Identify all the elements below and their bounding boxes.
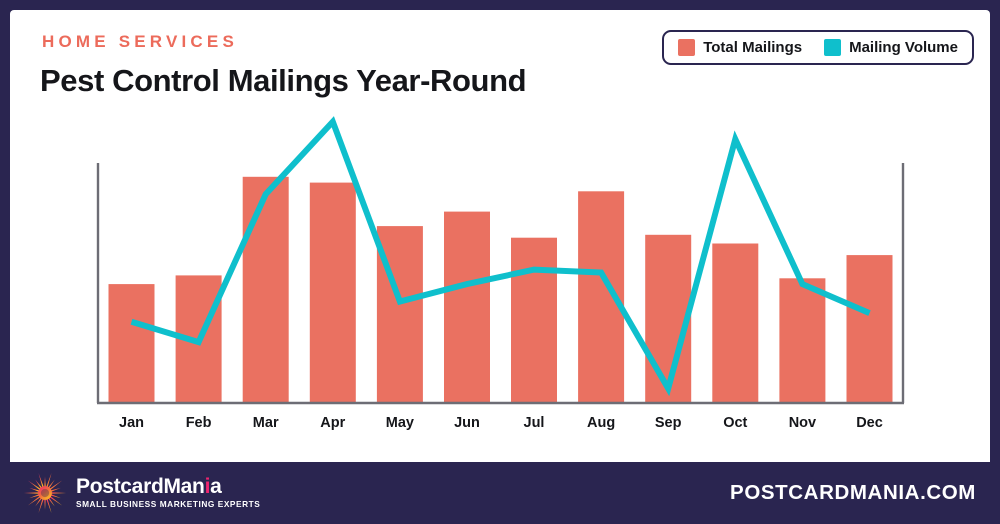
bar[interactable] [511, 238, 557, 403]
screenshot-root: HOME SERVICES Pest Control Mailings Year… [0, 0, 1000, 524]
bar[interactable] [712, 244, 758, 404]
x-axis-tick-label: Feb [186, 415, 212, 431]
brand-tagline: SMALL BUSINESS MARKETING EXPERTS [76, 499, 260, 510]
x-axis-tick-label: Nov [789, 415, 816, 431]
brand-name-pre: PostcardMan [76, 475, 205, 498]
bar[interactable] [779, 278, 825, 403]
x-axis-tick-label: Mar [253, 415, 279, 431]
chart-card: HOME SERVICES Pest Control Mailings Year… [10, 10, 990, 514]
brand-lockup[interactable]: PostcardMania SMALL BUSINESS MARKETING E… [22, 470, 260, 516]
x-axis-tick-label: Aug [587, 415, 615, 431]
footer-url[interactable]: POSTCARDMANIA.COM [730, 481, 976, 505]
x-axis-tick-label: Sep [655, 415, 682, 431]
x-axis-tick-label: Oct [723, 415, 747, 431]
bar[interactable] [444, 212, 490, 403]
bar[interactable] [109, 284, 155, 403]
x-axis-tick-label: Jun [454, 415, 480, 431]
bar-series [109, 177, 893, 403]
brand-name: PostcardMania [76, 476, 260, 498]
x-axis-tick-label: Jan [119, 415, 144, 431]
sunburst-logo-icon [22, 470, 68, 516]
footer-bar: PostcardMania SMALL BUSINESS MARKETING E… [0, 462, 1000, 524]
brand-name-post: a [210, 475, 221, 498]
x-axis-tick-label: Jul [524, 415, 545, 431]
bar[interactable] [310, 183, 356, 403]
chart-plot-area: JanFebMarAprMayJunJulAugSepOctNovDec [10, 10, 990, 514]
brand-text: PostcardMania SMALL BUSINESS MARKETING E… [76, 476, 260, 510]
bar[interactable] [847, 255, 893, 403]
x-axis-tick-label: May [386, 415, 414, 431]
x-axis-tick-label: Dec [856, 415, 883, 431]
line-series[interactable] [132, 122, 870, 389]
bar[interactable] [243, 177, 289, 403]
x-axis-tick-label: Apr [320, 415, 345, 431]
combo-chart-svg: JanFebMarAprMayJunJulAugSepOctNovDec [10, 10, 990, 514]
